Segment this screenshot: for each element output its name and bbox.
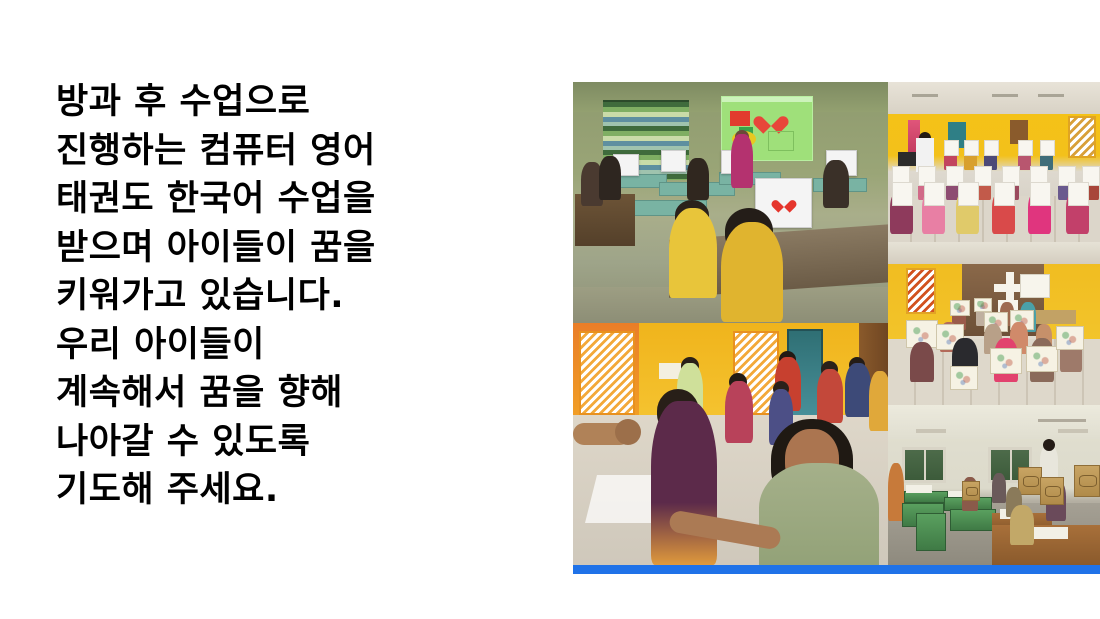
photo-drawings bbox=[888, 242, 1100, 405]
ceiling-fan bbox=[992, 94, 1018, 97]
collage-right-column bbox=[888, 82, 1100, 565]
heart-icon bbox=[776, 195, 792, 209]
ceiling-fan bbox=[1038, 94, 1064, 97]
girl-punching bbox=[651, 401, 717, 565]
held-paper bbox=[958, 182, 979, 206]
student bbox=[687, 158, 709, 200]
workbook bbox=[1018, 467, 1042, 495]
held-paper bbox=[944, 140, 959, 156]
held-paper bbox=[964, 140, 979, 156]
teacher-head bbox=[1043, 439, 1055, 451]
child-drawing bbox=[990, 348, 1022, 374]
held-paper bbox=[1068, 182, 1089, 206]
papers-on-desk bbox=[906, 485, 932, 493]
student bbox=[823, 160, 849, 208]
student bbox=[992, 473, 1006, 503]
student-foreground bbox=[669, 208, 717, 298]
held-paper bbox=[1030, 182, 1051, 206]
fluorescent-tube bbox=[916, 429, 946, 433]
child-drawing bbox=[950, 366, 978, 390]
ceiling bbox=[888, 82, 1100, 114]
photo-classroom bbox=[888, 405, 1100, 565]
text-line: 나아갈 수 있도록 bbox=[56, 418, 526, 467]
photo-computer-class bbox=[573, 82, 888, 323]
ceiling-fan bbox=[912, 94, 938, 97]
workbook bbox=[1040, 477, 1064, 505]
computer-monitor bbox=[661, 150, 686, 172]
photo-taekwondo bbox=[573, 323, 888, 565]
held-paper bbox=[994, 182, 1015, 206]
grille-window bbox=[906, 268, 936, 314]
ceiling bbox=[888, 405, 1100, 439]
grille-window bbox=[1068, 116, 1096, 158]
teacher bbox=[731, 134, 753, 188]
ceiling bbox=[888, 242, 1100, 264]
window bbox=[902, 447, 946, 483]
child bbox=[845, 363, 871, 417]
workbook bbox=[962, 481, 980, 501]
held-paper bbox=[892, 182, 913, 206]
ceiling-fan bbox=[1060, 419, 1086, 422]
school-desk bbox=[950, 509, 996, 531]
photo-papers-hall bbox=[888, 82, 1100, 242]
student-foreground bbox=[1010, 505, 1034, 545]
child-drawing bbox=[950, 300, 970, 316]
photo-collage bbox=[573, 82, 1100, 565]
screen-titlebar bbox=[722, 97, 812, 102]
student bbox=[599, 156, 621, 200]
text-line: 방과 후 수업으로 bbox=[56, 78, 526, 127]
child-drawing bbox=[974, 298, 992, 312]
grille-window bbox=[579, 331, 635, 415]
held-paper bbox=[924, 182, 945, 206]
presentation-slide: 방과 후 수업으로 진행하는 컴퓨터 영어 태권도 한국어 수업을 받으며 아이… bbox=[0, 0, 1100, 619]
text-line: 키워가고 있습니다. bbox=[56, 272, 526, 321]
korean-message-text: 방과 후 수업으로 진행하는 컴퓨터 영어 태권도 한국어 수업을 받으며 아이… bbox=[56, 78, 526, 515]
child bbox=[869, 371, 888, 431]
fist bbox=[615, 419, 641, 445]
workbook bbox=[1074, 465, 1100, 497]
child-drawing bbox=[1056, 326, 1084, 350]
text-line: 진행하는 컴퓨터 영어 bbox=[56, 127, 526, 176]
child-kneeling bbox=[910, 342, 934, 382]
child bbox=[725, 381, 753, 443]
child bbox=[817, 369, 843, 423]
text-line: 태권도 한국어 수업을 bbox=[56, 175, 526, 224]
shape-square-red bbox=[730, 111, 750, 126]
held-paper bbox=[984, 140, 999, 156]
fluorescent-tube bbox=[1058, 429, 1088, 433]
child-drawing bbox=[1026, 346, 1058, 372]
text-line: 우리 아이들이 bbox=[56, 321, 526, 370]
student-foreground bbox=[721, 222, 783, 322]
projector-screen bbox=[1020, 274, 1050, 298]
text-line: 기도해 주세요. bbox=[56, 466, 526, 515]
bottom-accent-bar bbox=[573, 565, 1100, 574]
shape-outline-box bbox=[768, 131, 794, 151]
girl-foreground bbox=[759, 463, 879, 565]
held-paper bbox=[1018, 140, 1033, 156]
wooden-table bbox=[1034, 310, 1076, 324]
collage-left-column bbox=[573, 82, 888, 565]
text-line: 받으며 아이들이 꿈을 bbox=[56, 224, 526, 273]
text-line: 계속해서 꿈을 향해 bbox=[56, 369, 526, 418]
papers-on-desk bbox=[1034, 527, 1068, 539]
school-chair bbox=[916, 513, 946, 551]
heart-icon bbox=[760, 109, 782, 129]
held-paper bbox=[1040, 140, 1055, 156]
